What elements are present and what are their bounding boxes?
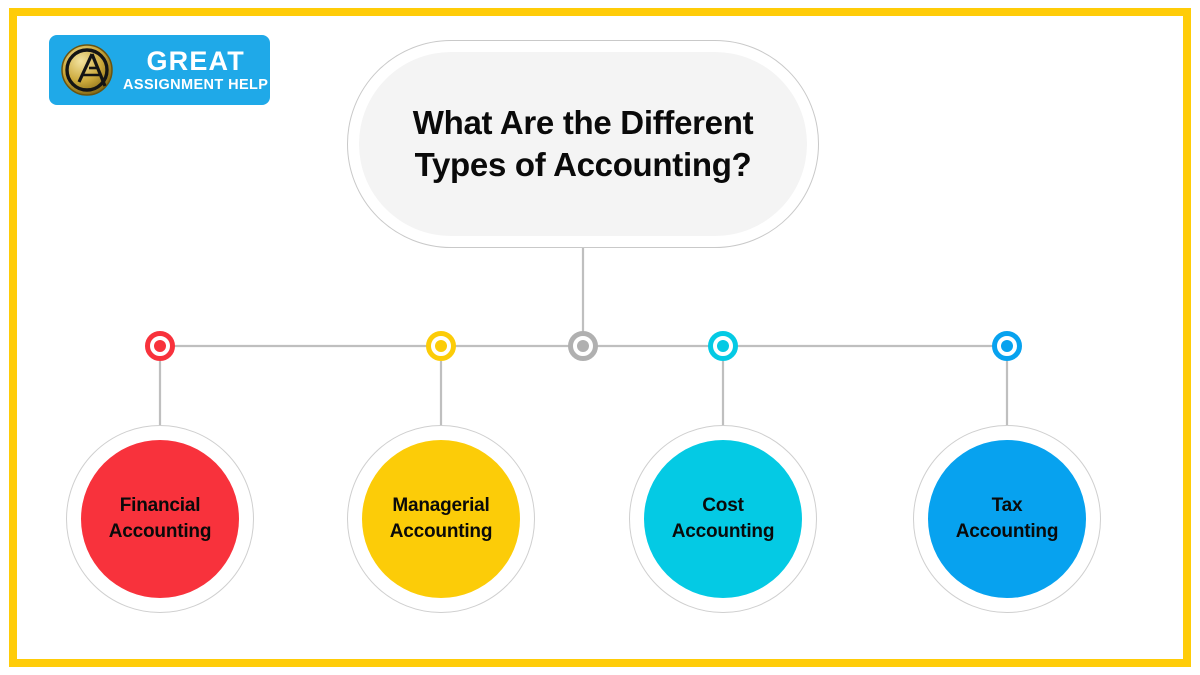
node-hub (568, 331, 598, 361)
circle-financial[interactable]: Financial Accounting (66, 425, 254, 613)
node-financial[interactable] (145, 331, 175, 361)
page-title: What Are the Different Types of Accounti… (359, 102, 807, 186)
node-cost[interactable] (708, 331, 738, 361)
infographic-canvas: GREAT ASSIGNMENT HELP What Are the Diffe… (0, 0, 1200, 675)
coin-monogram-icon (59, 42, 115, 98)
circle-financial-label: Financial Accounting (99, 493, 222, 544)
node-tax-dot (1001, 340, 1013, 352)
title-pill: What Are the Different Types of Accounti… (347, 40, 819, 248)
logo-title: GREAT (146, 48, 245, 75)
circle-cost[interactable]: Cost Accounting (629, 425, 817, 613)
node-managerial[interactable] (426, 331, 456, 361)
node-financial-dot (154, 340, 166, 352)
circle-cost-fill: Cost Accounting (644, 440, 802, 598)
circle-tax[interactable]: Tax Accounting (913, 425, 1101, 613)
node-tax[interactable] (992, 331, 1022, 361)
circle-tax-fill: Tax Accounting (928, 440, 1086, 598)
logo-subtitle: ASSIGNMENT HELP (123, 78, 268, 93)
circle-tax-label: Tax Accounting (946, 493, 1069, 544)
circle-managerial[interactable]: Managerial Accounting (347, 425, 535, 613)
node-hub-dot (577, 340, 589, 352)
circle-managerial-fill: Managerial Accounting (362, 440, 520, 598)
title-pill-inner: What Are the Different Types of Accounti… (359, 52, 807, 236)
node-managerial-dot (435, 340, 447, 352)
node-cost-dot (717, 340, 729, 352)
circle-managerial-label: Managerial Accounting (380, 493, 503, 544)
circle-financial-fill: Financial Accounting (81, 440, 239, 598)
circle-cost-label: Cost Accounting (662, 493, 785, 544)
brand-logo[interactable]: GREAT ASSIGNMENT HELP (49, 35, 270, 105)
